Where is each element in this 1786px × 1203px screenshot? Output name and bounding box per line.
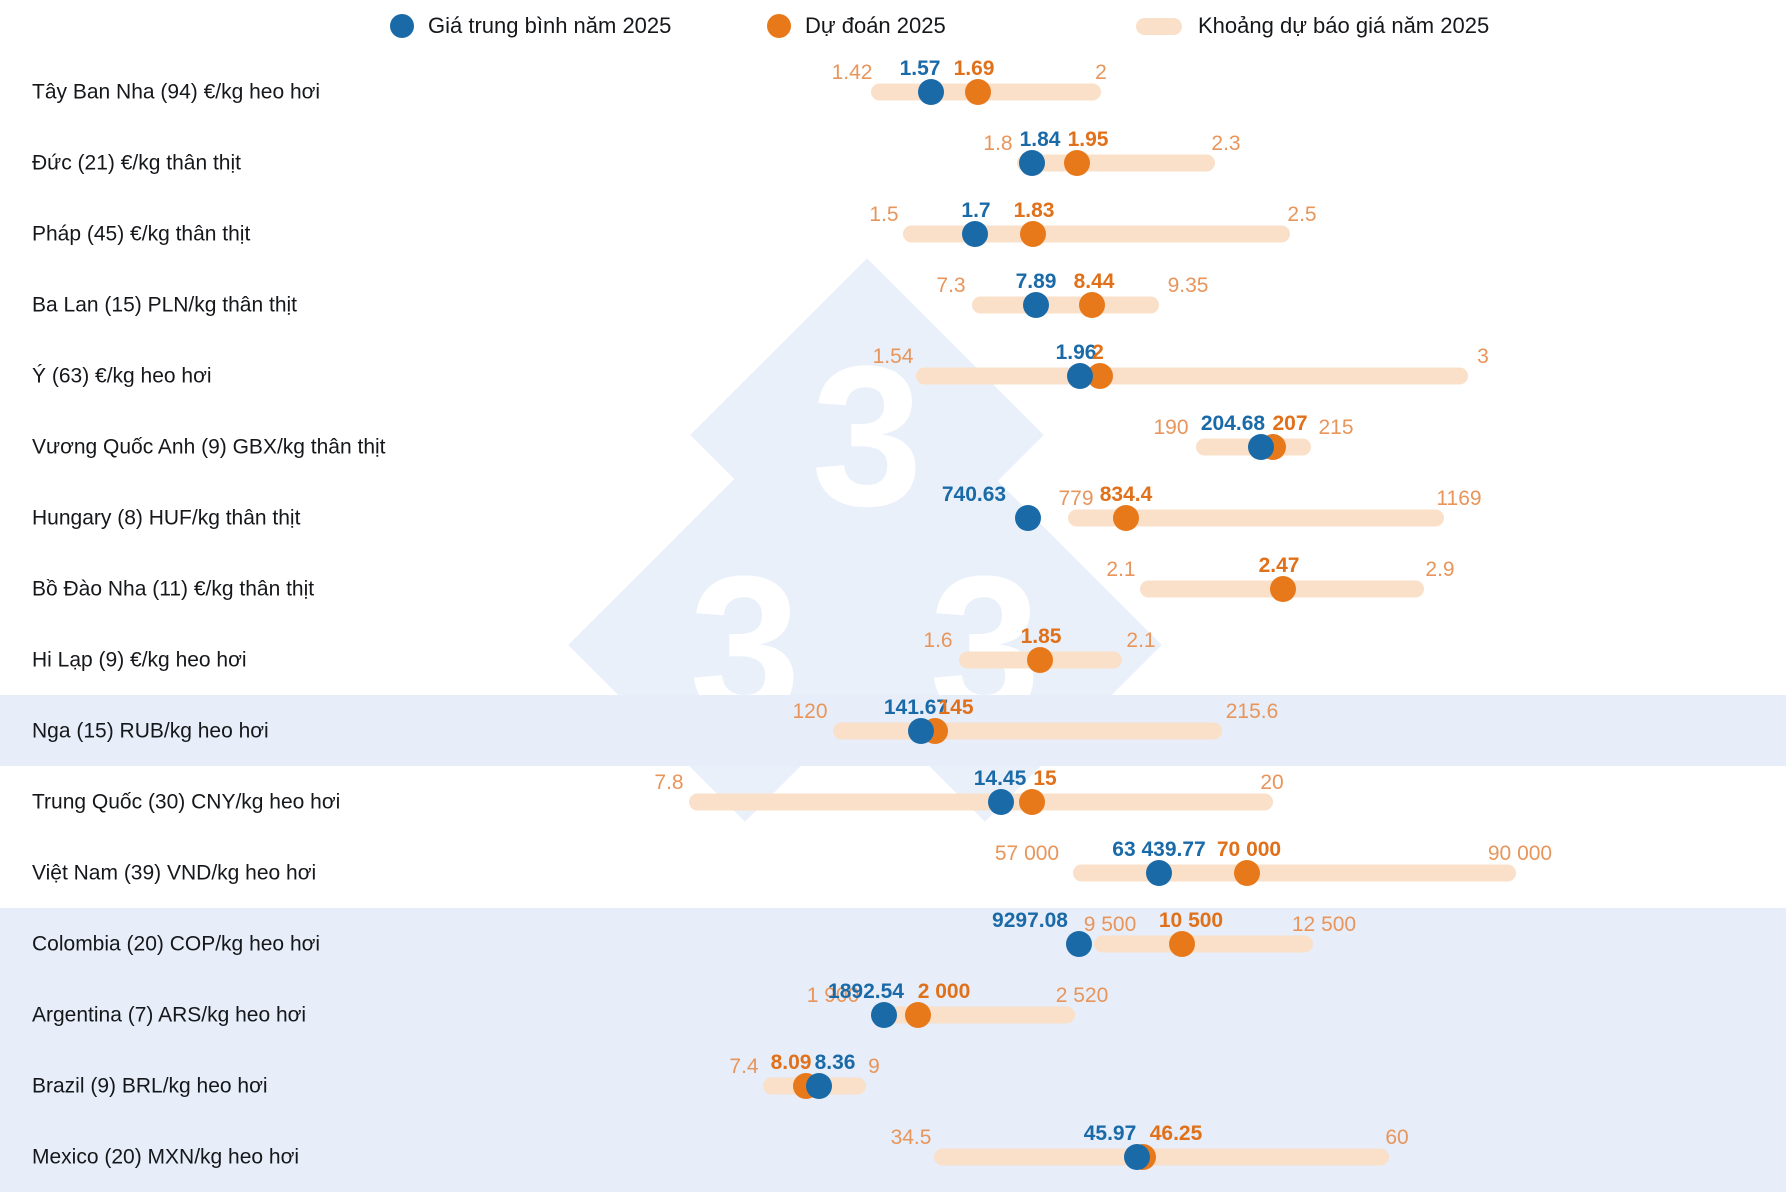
range-max-label: 2	[1095, 62, 1107, 83]
range-min-label: 9 500	[1084, 914, 1137, 935]
row-label: Brazil (9) BRL/kg heo hơi	[32, 1075, 268, 1096]
forecast-price-label: 2	[1092, 342, 1104, 363]
range-min-label: 34.5	[891, 1127, 932, 1148]
range-min-label: 7.3	[936, 275, 965, 296]
forecast-price-label: 834.4	[1100, 484, 1153, 505]
average-price-dot[interactable]	[1124, 1144, 1150, 1170]
legend-item-1[interactable]: Dự đoán 2025	[767, 9, 946, 43]
average-price-label: 45.97	[1084, 1123, 1137, 1144]
chart-row[interactable]: Nga (15) RUB/kg heo hơi120215.6141.67145	[0, 695, 1786, 766]
forecast-price-label: 207	[1272, 413, 1307, 434]
average-price-dot[interactable]	[1067, 363, 1093, 389]
average-price-dot[interactable]	[988, 789, 1014, 815]
range-max-label: 215.6	[1226, 701, 1279, 722]
range-min-label: 190	[1153, 417, 1188, 438]
range-max-label: 90 000	[1488, 843, 1552, 864]
forecast-price-label: 70 000	[1217, 839, 1281, 860]
average-price-label: 8.36	[815, 1052, 856, 1073]
forecast-price-dot[interactable]	[1019, 789, 1045, 815]
average-price-dot[interactable]	[806, 1073, 832, 1099]
chart-row[interactable]: Hungary (8) HUF/kg thân thịt7791169740.6…	[0, 482, 1786, 553]
forecast-price-label: 2 000	[918, 981, 971, 1002]
row-label: Hungary (8) HUF/kg thân thịt	[32, 507, 300, 528]
forecast-price-dot[interactable]	[1234, 860, 1260, 886]
range-max-label: 2 520	[1056, 985, 1109, 1006]
average-price-dot[interactable]	[1015, 505, 1041, 531]
legend-label: Khoảng dự báo giá năm 2025	[1198, 15, 1489, 37]
forecast-price-label: 8.44	[1074, 271, 1115, 292]
forecast-price-dot[interactable]	[1270, 576, 1296, 602]
chart-row[interactable]: Ba Lan (15) PLN/kg thân thịt7.39.357.898…	[0, 269, 1786, 340]
range-min-label: 57 000	[995, 843, 1059, 864]
range-bar	[1073, 864, 1516, 881]
average-price-dot[interactable]	[1019, 150, 1045, 176]
range-max-label: 1169	[1436, 488, 1481, 509]
range-max-label: 20	[1260, 772, 1283, 793]
average-price-dot[interactable]	[1248, 434, 1274, 460]
forecast-price-label: 145	[938, 697, 973, 718]
circle-blue-icon	[390, 14, 414, 38]
forecast-price-label: 1.69	[954, 58, 995, 79]
row-label: Trung Quốc (30) CNY/kg heo hơi	[32, 791, 340, 812]
range-max-label: 215	[1318, 417, 1353, 438]
average-price-label: 14.45	[974, 768, 1027, 789]
row-label: Việt Nam (39) VND/kg heo hơi	[32, 862, 316, 883]
range-min-label: 1.5	[869, 204, 898, 225]
average-price-dot[interactable]	[871, 1002, 897, 1028]
row-label: Colombia (20) COP/kg heo hơi	[32, 933, 320, 954]
range-min-label: 7.4	[729, 1056, 758, 1077]
row-label: Vương Quốc Anh (9) GBX/kg thân thịt	[32, 436, 386, 457]
range-max-label: 2.5	[1287, 204, 1316, 225]
forecast-price-label: 15	[1033, 768, 1056, 789]
range-max-label: 60	[1385, 1127, 1408, 1148]
range-max-label: 2.3	[1211, 133, 1240, 154]
range-max-label: 9	[868, 1056, 880, 1077]
forecast-price-label: 2.47	[1259, 555, 1300, 576]
row-label: Nga (15) RUB/kg heo hơi	[32, 720, 269, 741]
forecast-price-label: 1.85	[1021, 626, 1062, 647]
average-price-dot[interactable]	[908, 718, 934, 744]
range-min-label: 1.54	[873, 346, 914, 367]
chart-row[interactable]: Hi Lạp (9) €/kg heo hơi1.62.11.85	[0, 624, 1786, 695]
legend-label: Dự đoán 2025	[805, 15, 946, 37]
range-bar	[833, 722, 1222, 739]
range-bar	[1017, 154, 1215, 171]
chart-legend: Giá trung bình năm 2025Dự đoán 2025Khoản…	[0, 0, 1786, 56]
range-bar	[916, 367, 1468, 384]
forecast-price-dot[interactable]	[1169, 931, 1195, 957]
average-price-label: 204.68	[1201, 413, 1265, 434]
average-price-label: 63 439.77	[1112, 839, 1205, 860]
range-max-label: 3	[1477, 346, 1489, 367]
forecast-price-dot[interactable]	[1079, 292, 1105, 318]
forecast-price-dot[interactable]	[965, 79, 991, 105]
legend-item-2[interactable]: Khoảng dự báo giá năm 2025	[1136, 9, 1489, 43]
row-label: Pháp (45) €/kg thân thịt	[32, 223, 250, 244]
range-bar	[689, 793, 1273, 810]
chart-row[interactable]: Đức (21) €/kg thân thịt1.82.31.841.95	[0, 127, 1786, 198]
chart-row[interactable]: Ý (63) €/kg heo hơi1.5431.962	[0, 340, 1786, 411]
chart-row[interactable]: Việt Nam (39) VND/kg heo hơi57 00090 000…	[0, 837, 1786, 908]
legend-item-0[interactable]: Giá trung bình năm 2025	[390, 9, 671, 43]
average-price-dot[interactable]	[1146, 860, 1172, 886]
circle-orange-icon	[767, 14, 791, 38]
forecast-price-label: 46.25	[1150, 1123, 1203, 1144]
chart-row[interactable]: Mexico (20) MXN/kg heo hơi34.56045.9746.…	[0, 1121, 1786, 1192]
forecast-price-label: 10 500	[1159, 910, 1223, 931]
chart-row[interactable]: Argentina (7) ARS/kg heo hơi1 9002 52018…	[0, 979, 1786, 1050]
forecast-price-label: 1.83	[1014, 200, 1055, 221]
range-max-label: 9.35	[1168, 275, 1209, 296]
forecast-price-dot[interactable]	[905, 1002, 931, 1028]
chart-row[interactable]: Vương Quốc Anh (9) GBX/kg thân thịt19021…	[0, 411, 1786, 482]
range-min-label: 779	[1058, 488, 1093, 509]
dumbbell-chart-plot: Tây Ban Nha (94) €/kg heo hơi1.4221.571.…	[0, 56, 1786, 1203]
average-price-dot[interactable]	[1066, 931, 1092, 957]
chart-row[interactable]: Tây Ban Nha (94) €/kg heo hơi1.4221.571.…	[0, 56, 1786, 127]
range-max-label: 2.1	[1126, 630, 1155, 651]
forecast-price-dot[interactable]	[1113, 505, 1139, 531]
range-min-label: 7.8	[654, 772, 683, 793]
chart-row[interactable]: Pháp (45) €/kg thân thịt1.52.51.71.83	[0, 198, 1786, 269]
range-bar	[1094, 935, 1313, 952]
range-max-label: 2.9	[1425, 559, 1454, 580]
range-min-label: 120	[792, 701, 827, 722]
average-price-label: 740.63	[942, 484, 1006, 505]
forecast-price-label: 1.95	[1068, 129, 1109, 150]
forecast-price-dot[interactable]	[1027, 647, 1053, 673]
average-price-label: 1892.54	[828, 981, 904, 1002]
range-min-label: 1.42	[832, 62, 873, 83]
average-price-label: 1.84	[1020, 129, 1061, 150]
row-label: Hi Lạp (9) €/kg heo hơi	[32, 649, 247, 670]
chart-row[interactable]: Bồ Đào Nha (11) €/kg thân thịt2.12.92.47	[0, 553, 1786, 624]
range-min-label: 2.1	[1106, 559, 1135, 580]
forecast-price-label: 8.09	[771, 1052, 812, 1073]
range-bar-icon	[1136, 18, 1182, 35]
row-label: Tây Ban Nha (94) €/kg heo hơi	[32, 81, 320, 102]
row-label: Ý (63) €/kg heo hơi	[32, 365, 212, 386]
row-label: Ba Lan (15) PLN/kg thân thịt	[32, 294, 297, 315]
forecast-price-dot[interactable]	[1020, 221, 1046, 247]
forecast-price-dot[interactable]	[1064, 150, 1090, 176]
range-max-label: 12 500	[1292, 914, 1356, 935]
average-price-dot[interactable]	[1023, 292, 1049, 318]
range-bar	[934, 1148, 1389, 1165]
range-min-label: 1.8	[983, 133, 1012, 154]
range-min-label: 1.6	[923, 630, 952, 651]
average-price-label: 1.7	[961, 200, 990, 221]
range-bar	[872, 1006, 1075, 1023]
average-price-label: 1.57	[900, 58, 941, 79]
row-label: Mexico (20) MXN/kg heo hơi	[32, 1146, 299, 1167]
row-label: Đức (21) €/kg thân thịt	[32, 152, 241, 173]
legend-label: Giá trung bình năm 2025	[428, 15, 671, 37]
average-price-label: 7.89	[1016, 271, 1057, 292]
chart-row[interactable]: Trung Quốc (30) CNY/kg heo hơi7.82014.45…	[0, 766, 1786, 837]
average-price-dot[interactable]	[962, 221, 988, 247]
chart-row[interactable]: Colombia (20) COP/kg heo hơi9 50012 5009…	[0, 908, 1786, 979]
row-label: Argentina (7) ARS/kg heo hơi	[32, 1004, 306, 1025]
average-price-label: 9297.08	[992, 910, 1068, 931]
range-bar	[972, 296, 1159, 313]
average-price-label: 1.96	[1056, 342, 1097, 363]
row-label: Bồ Đào Nha (11) €/kg thân thịt	[32, 578, 314, 599]
chart-row[interactable]: Brazil (9) BRL/kg heo hơi7.498.368.09	[0, 1050, 1786, 1121]
average-price-dot[interactable]	[918, 79, 944, 105]
